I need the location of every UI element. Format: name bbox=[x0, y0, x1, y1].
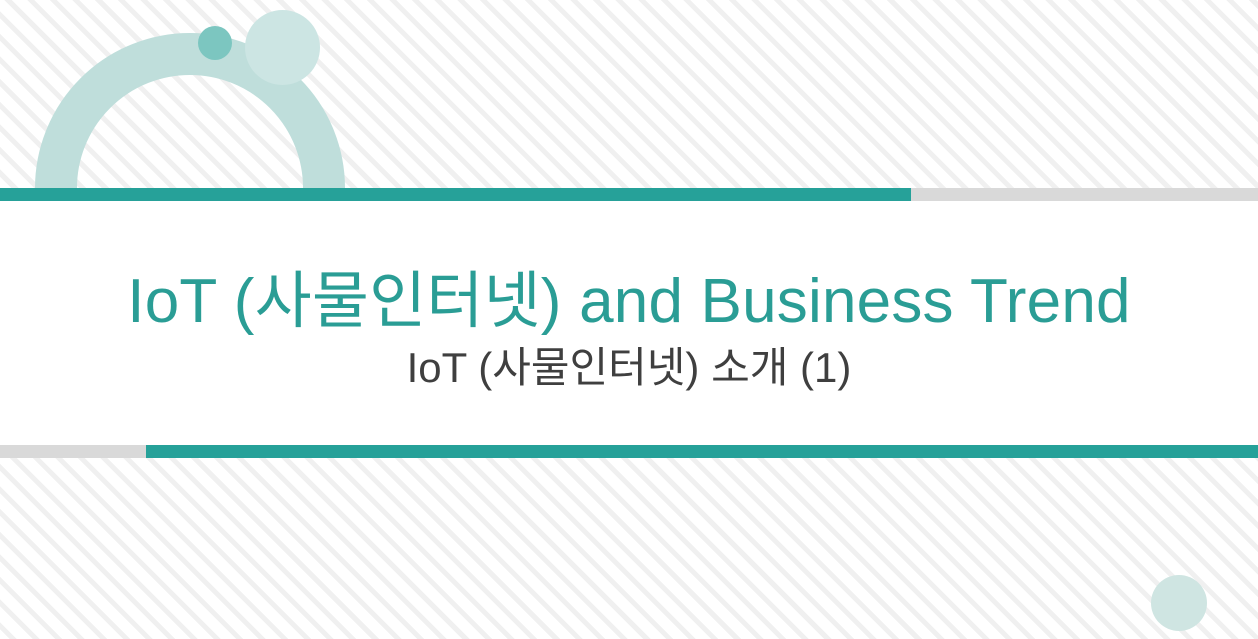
title-slide: IoT (사물인터넷) and Business Trend IoT (사물인터… bbox=[0, 0, 1258, 639]
top-rule-muted-segment bbox=[911, 188, 1258, 201]
slide-subtitle: IoT (사물인터넷) 소개 (1) bbox=[407, 343, 852, 393]
decorative-circle-large-icon bbox=[245, 10, 320, 85]
bottom-rule-accent-segment bbox=[146, 445, 1258, 458]
bottom-rule-muted-segment bbox=[0, 445, 146, 458]
decorative-circle-small-icon bbox=[198, 26, 232, 60]
title-block: IoT (사물인터넷) and Business Trend IoT (사물인터… bbox=[0, 201, 1258, 445]
decorative-circle-corner-icon bbox=[1151, 575, 1207, 631]
top-rule bbox=[0, 188, 1258, 201]
bottom-rule bbox=[0, 445, 1258, 458]
slide-title: IoT (사물인터넷) and Business Trend bbox=[127, 267, 1130, 336]
top-rule-accent-segment bbox=[0, 188, 911, 201]
